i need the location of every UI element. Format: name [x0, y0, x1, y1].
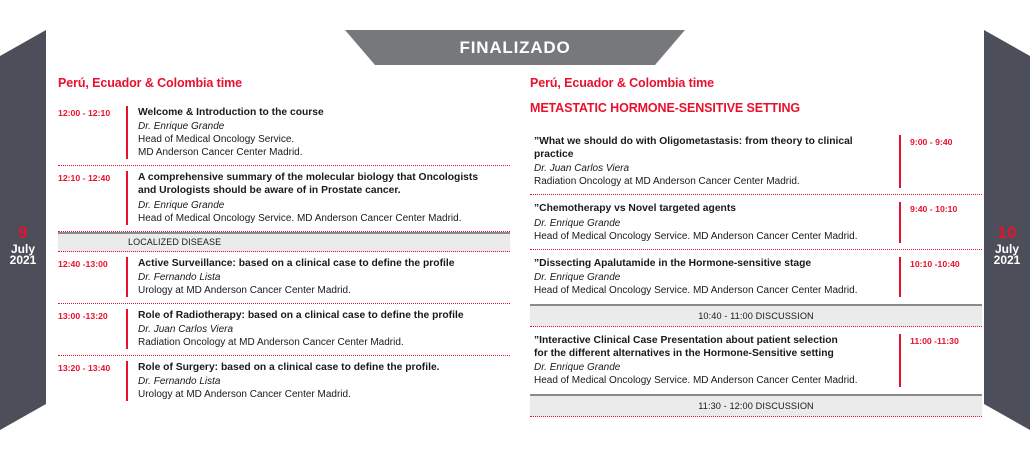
session-body: ”Chemotherapy vs Novel targeted agents D… [530, 202, 899, 242]
session-body: Active Surveillance: based on a clinical… [138, 257, 510, 297]
session-row[interactable]: ”Chemotherapy vs Novel targeted agents D… [530, 195, 982, 249]
session-body: Welcome & Introduction to the course Dr.… [138, 106, 510, 159]
session-accent-bar [126, 257, 128, 297]
session-title: for the different alternatives in the Ho… [534, 347, 887, 360]
session-affiliation: Radiation Oncology at MD Anderson Cancer… [534, 175, 887, 188]
section-band-localized-disease: LOCALIZED DISEASE [58, 232, 510, 252]
session-affiliation: Urology at MD Anderson Cancer Center Mad… [138, 388, 510, 401]
discussion-band: 11:30 - 12:00 DISCUSSION [530, 394, 982, 417]
session-speaker: Dr. Fernando Lista [138, 375, 510, 388]
session-speaker: Dr. Enrique Grande [534, 217, 887, 230]
session-speaker: Dr. Enrique Grande [534, 361, 887, 374]
session-affiliation: Head of Medical Oncology Service. MD And… [534, 374, 887, 387]
session-accent-bar [126, 361, 128, 401]
right-date-day: 10 [984, 224, 1030, 242]
session-affiliation: MD Anderson Cancer Center Madrid. [138, 146, 510, 159]
metastatic-section-heading: METASTATIC HORMONE-SENSITIVE SETTING [530, 101, 982, 115]
session-accent-bar [126, 171, 128, 224]
session-body: ”Interactive Clinical Case Presentation … [530, 334, 899, 387]
session-title: Role of Radiotherapy: based on a clinica… [138, 309, 510, 322]
session-row[interactable]: ”Dissecting Apalutamide in the Hormone-s… [530, 250, 982, 304]
session-time: 12:10 - 12:40 [58, 171, 126, 224]
session-affiliation: Head of Medical Oncology Service. MD And… [138, 212, 510, 225]
session-accent-bar [126, 309, 128, 349]
session-body: ”Dissecting Apalutamide in the Hormone-s… [530, 257, 899, 297]
discussion-label: 10:40 - 11:00 DISCUSSION [698, 311, 814, 321]
session-title: ”Chemotherapy vs Novel targeted agents [534, 202, 887, 215]
left-date-year: 2021 [0, 254, 46, 267]
session-title: ”Interactive Clinical Case Presentation … [534, 334, 887, 347]
session-affiliation: Head of Medical Oncology Service. MD And… [534, 230, 887, 243]
session-row[interactable]: ”Interactive Clinical Case Presentation … [530, 327, 982, 394]
left-date-month: July [0, 243, 46, 256]
session-time: 9:00 - 9:40 [901, 135, 982, 188]
right-date-year: 2021 [984, 254, 1030, 267]
left-date-panel: 9 July 2021 [0, 0, 60, 450]
session-body: Role of Radiotherapy: based on a clinica… [138, 309, 510, 349]
left-date-badge: 9 July 2021 [0, 224, 46, 267]
left-timezone-label: Perú, Ecuador & Colombia time [58, 76, 510, 90]
session-time: 11:00 -11:30 [901, 334, 982, 387]
session-row[interactable]: 13:20 - 13:40 Role of Surgery: based on … [58, 356, 510, 407]
left-agenda-column: Perú, Ecuador & Colombia time 12:00 - 12… [58, 76, 510, 407]
session-body: Role of Surgery: based on a clinical cas… [138, 361, 510, 401]
session-speaker: Dr. Enrique Grande [534, 271, 887, 284]
session-title: ”Dissecting Apalutamide in the Hormone-s… [534, 257, 887, 270]
session-speaker: Dr. Enrique Grande [138, 199, 510, 212]
session-affiliation: Head of Medical Oncology Service. [138, 133, 510, 146]
session-speaker: Dr. Enrique Grande [138, 120, 510, 133]
left-date-day: 9 [0, 224, 46, 242]
left-panel-shape [0, 0, 60, 450]
session-time: 10:10 -10:40 [901, 257, 982, 297]
session-title: Active Surveillance: based on a clinical… [138, 257, 510, 270]
session-row[interactable]: 13:00 -13:20 Role of Radiotherapy: based… [58, 304, 510, 356]
session-title: ”What we should do with Oligometastasis:… [534, 135, 887, 161]
status-banner: FINALIZADO [345, 30, 685, 65]
session-body: ”What we should do with Oligometastasis:… [530, 135, 899, 188]
session-title: Welcome & Introduction to the course [138, 106, 510, 119]
section-band-label: LOCALIZED DISEASE [58, 237, 221, 247]
session-affiliation: Urology at MD Anderson Cancer Center Mad… [138, 284, 510, 297]
session-speaker: Dr. Juan Carlos Viera [534, 162, 887, 175]
right-date-month: July [984, 243, 1030, 256]
right-agenda-column: Perú, Ecuador & Colombia time METASTATIC… [530, 76, 982, 417]
session-row[interactable]: ”What we should do with Oligometastasis:… [530, 128, 982, 195]
discussion-label: 11:30 - 12:00 DISCUSSION [698, 401, 814, 411]
discussion-band: 10:40 - 11:00 DISCUSSION [530, 304, 982, 327]
session-time: 13:20 - 13:40 [58, 361, 126, 401]
session-affiliation: Radiation Oncology at MD Anderson Cancer… [138, 336, 510, 349]
session-speaker: Dr. Fernando Lista [138, 271, 510, 284]
session-time: 12:40 -13:00 [58, 257, 126, 297]
right-timezone-label: Perú, Ecuador & Colombia time [530, 76, 982, 90]
session-row[interactable]: 12:40 -13:00 Active Surveillance: based … [58, 252, 510, 304]
session-title: A comprehensive summary of the molecular… [138, 171, 510, 184]
session-row[interactable]: 12:00 - 12:10 Welcome & Introduction to … [58, 101, 510, 166]
session-body: A comprehensive summary of the molecular… [138, 171, 510, 224]
session-time: 12:00 - 12:10 [58, 106, 126, 159]
session-time: 13:00 -13:20 [58, 309, 126, 349]
right-date-badge: 10 July 2021 [984, 224, 1030, 267]
session-title: Role of Surgery: based on a clinical cas… [138, 361, 510, 374]
session-time: 9:40 - 10:10 [901, 202, 982, 242]
session-title: and Urologists should be aware of in Pro… [138, 184, 510, 197]
session-row[interactable]: 12:10 - 12:40 A comprehensive summary of… [58, 166, 510, 231]
session-affiliation: Head of Medical Oncology Service. MD And… [534, 284, 887, 297]
session-accent-bar [126, 106, 128, 159]
session-speaker: Dr. Juan Carlos Viera [138, 323, 510, 336]
